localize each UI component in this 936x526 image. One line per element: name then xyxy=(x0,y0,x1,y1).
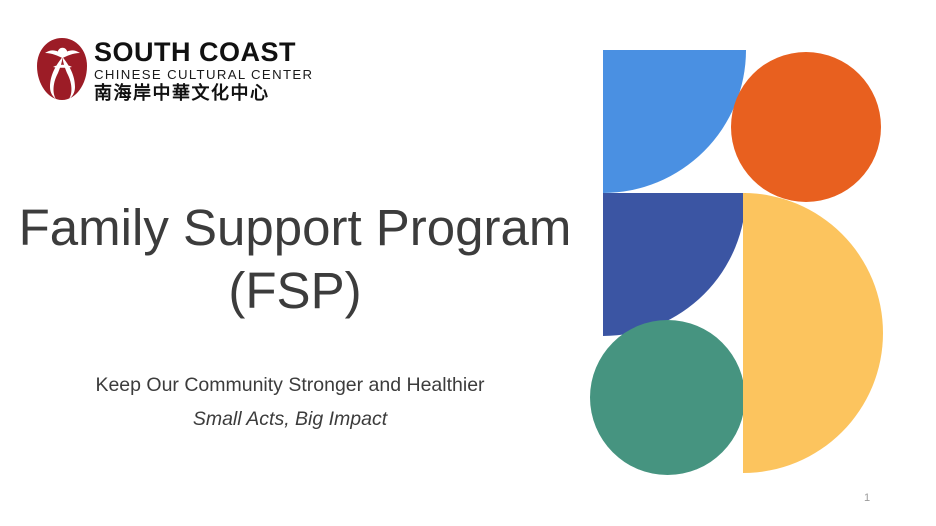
quarter-circle-light-blue-icon xyxy=(603,50,746,193)
subtitle-line-1: Keep Our Community Stronger and Healthie… xyxy=(0,371,580,399)
logo-name-chinese: 南海岸中華文化中心 xyxy=(94,83,326,105)
subtitle-block: Keep Our Community Stronger and Healthie… xyxy=(0,371,580,433)
half-circle-yellow-icon xyxy=(743,193,883,473)
subtitle-tagline: Small Acts, Big Impact xyxy=(0,405,580,433)
logo-name-english-secondary: CHINESE CULTURAL CENTER xyxy=(94,67,326,83)
title-line-2: (FSP) xyxy=(0,259,590,322)
circle-orange-icon xyxy=(731,52,881,202)
decorative-shape-cluster xyxy=(586,44,896,480)
logo-mark-icon xyxy=(36,37,88,101)
quarter-circle-dark-blue-icon xyxy=(603,193,746,336)
circle-green-icon xyxy=(590,320,745,475)
title-slide: SOUTH COAST CHINESE CULTURAL CENTER 南海岸中… xyxy=(0,0,936,526)
title-line-1: Family Support Program xyxy=(0,196,590,259)
logo-name-english-primary: SOUTH COAST xyxy=(94,38,326,67)
page-title: Family Support Program (FSP) xyxy=(0,196,590,322)
organization-logo: SOUTH COAST CHINESE CULTURAL CENTER 南海岸中… xyxy=(36,36,326,106)
logo-wordmark: SOUTH COAST CHINESE CULTURAL CENTER 南海岸中… xyxy=(94,38,326,105)
page-number: 1 xyxy=(855,492,879,504)
